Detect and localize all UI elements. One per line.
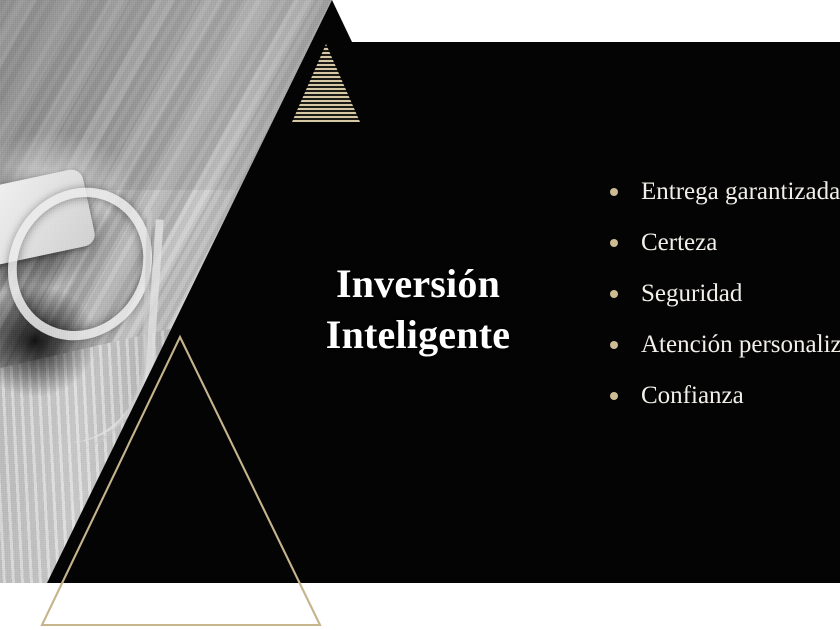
- slide-canvas: Inversión Inteligente Entrega garantizad…: [0, 0, 840, 630]
- list-item: Certeza: [608, 227, 840, 278]
- list-item: Seguridad: [608, 278, 840, 329]
- list-item-label: Seguridad: [641, 278, 742, 310]
- benefits-list: Entrega garantizada Certeza Seguridad At…: [608, 176, 840, 431]
- page-title: Inversión Inteligente: [268, 258, 568, 360]
- bullet-dot-icon: [610, 392, 618, 400]
- list-item-label: Entrega garantizada: [641, 176, 840, 208]
- bullet-dot-icon: [610, 188, 618, 196]
- list-item-label: Confianza: [641, 380, 744, 412]
- bullet-dot-icon: [610, 290, 618, 298]
- title-line-1: Inversión: [268, 258, 568, 309]
- list-item: Entrega garantizada: [608, 176, 840, 227]
- bullet-dot-icon: [610, 341, 618, 349]
- list-item-label: Atención personalizada: [641, 329, 840, 361]
- list-item: Atención personalizada: [608, 329, 840, 380]
- list-item: Confianza: [608, 380, 840, 431]
- white-top-band: [332, 0, 840, 42]
- list-item-label: Certeza: [641, 227, 717, 259]
- white-bottom-band: [0, 583, 840, 630]
- bullet-dot-icon: [610, 239, 618, 247]
- pyramid-stripes: [292, 44, 360, 122]
- title-line-2: Inteligente: [268, 309, 568, 360]
- pyramid-logo-icon: [292, 44, 360, 122]
